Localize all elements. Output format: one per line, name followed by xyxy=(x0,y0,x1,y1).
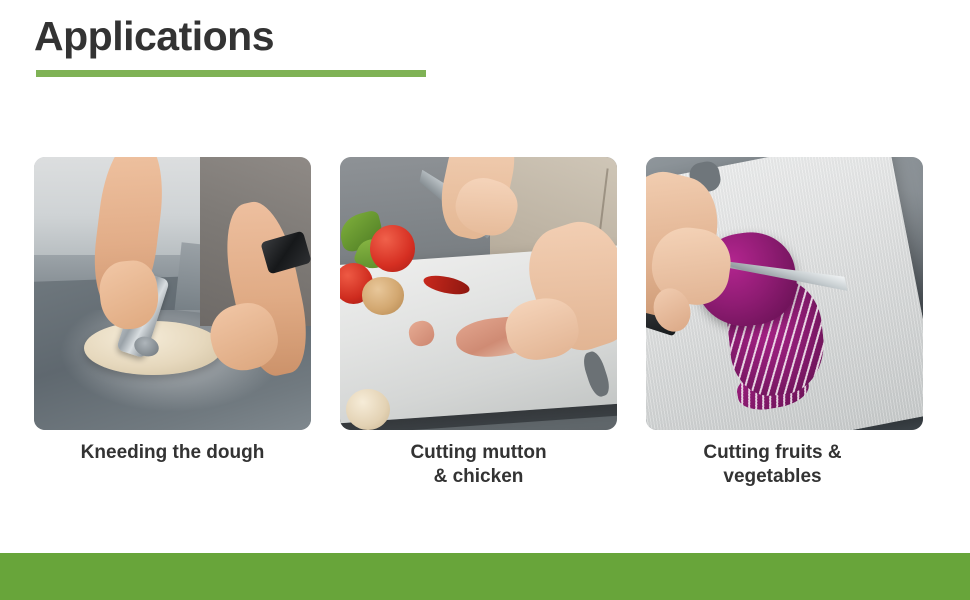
title-underline-rule xyxy=(36,70,426,77)
cutting-vegetables-photo xyxy=(646,157,923,430)
page-title: Applications xyxy=(34,14,274,59)
application-card-kneading: Kneeding the dough xyxy=(34,157,311,497)
card-caption: Cutting fruits & vegetables xyxy=(703,441,841,489)
card-caption: Cutting mutton & chicken xyxy=(410,441,546,489)
kneading-dough-photo xyxy=(34,157,311,430)
application-card-cutting-vegetables: Cutting fruits & vegetables xyxy=(646,157,923,497)
applications-card-row: Kneeding the dough xyxy=(34,157,923,497)
egg xyxy=(346,389,390,430)
tomato xyxy=(370,225,414,271)
footer-accent-bar xyxy=(0,553,970,600)
card-caption: Kneeding the dough xyxy=(81,441,265,465)
application-card-cutting-meat: Cutting mutton & chicken xyxy=(340,157,617,497)
cutting-meat-photo xyxy=(340,157,617,430)
onion xyxy=(362,277,404,315)
